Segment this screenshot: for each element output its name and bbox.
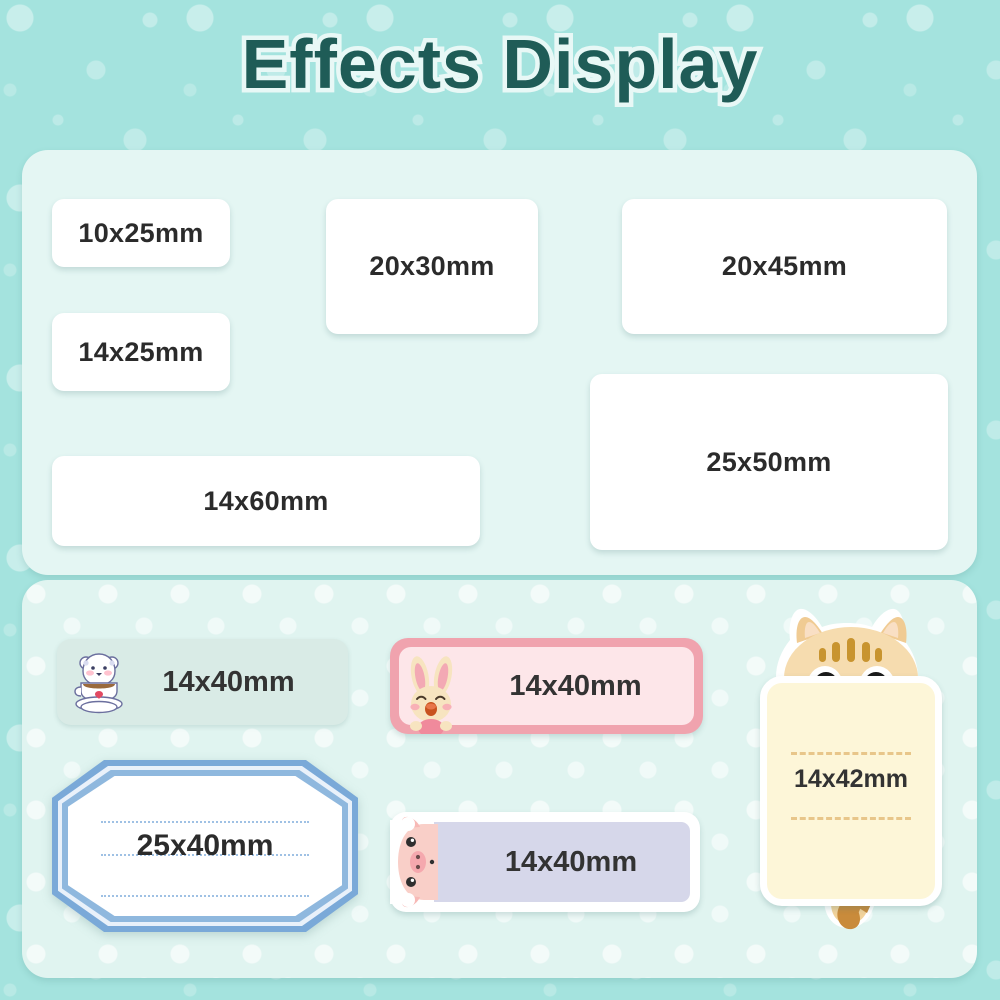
label-size-text: 20x30mm <box>369 251 494 282</box>
label-size-text: 10x25mm <box>78 218 203 249</box>
label-size-text: 14x42mm <box>767 765 935 794</box>
label-size-text: 20x45mm <box>722 251 847 282</box>
label-14x25[interactable]: 14x25mm <box>52 313 230 391</box>
label-pig[interactable]: 14x40mm <box>390 812 700 912</box>
label-size-text: 25x40mm <box>52 760 358 932</box>
label-cat[interactable]: 14x42mm <box>748 588 953 933</box>
label-size-text: 14x40mm <box>57 639 348 725</box>
pig-icon <box>388 812 458 912</box>
label-size-text: 25x50mm <box>706 447 831 478</box>
label-20x45[interactable]: 20x45mm <box>622 199 947 334</box>
label-size-text: 14x60mm <box>203 486 328 517</box>
label-10x25[interactable]: 10x25mm <box>52 199 230 267</box>
rabbit-icon <box>398 654 464 734</box>
label-20x30[interactable]: 20x30mm <box>326 199 538 334</box>
label-size-text: 14x25mm <box>78 337 203 368</box>
cat-label-card: 14x42mm <box>760 676 942 906</box>
label-14x60[interactable]: 14x60mm <box>52 456 480 546</box>
page-title: Effects Display <box>0 24 1000 104</box>
label-25x50[interactable]: 25x50mm <box>590 374 948 550</box>
label-rabbit[interactable]: 14x40mm <box>390 638 703 734</box>
label-bear-coffee[interactable]: 14x40mm <box>57 639 348 725</box>
label-octagon[interactable]: 25x40mm <box>52 760 358 932</box>
